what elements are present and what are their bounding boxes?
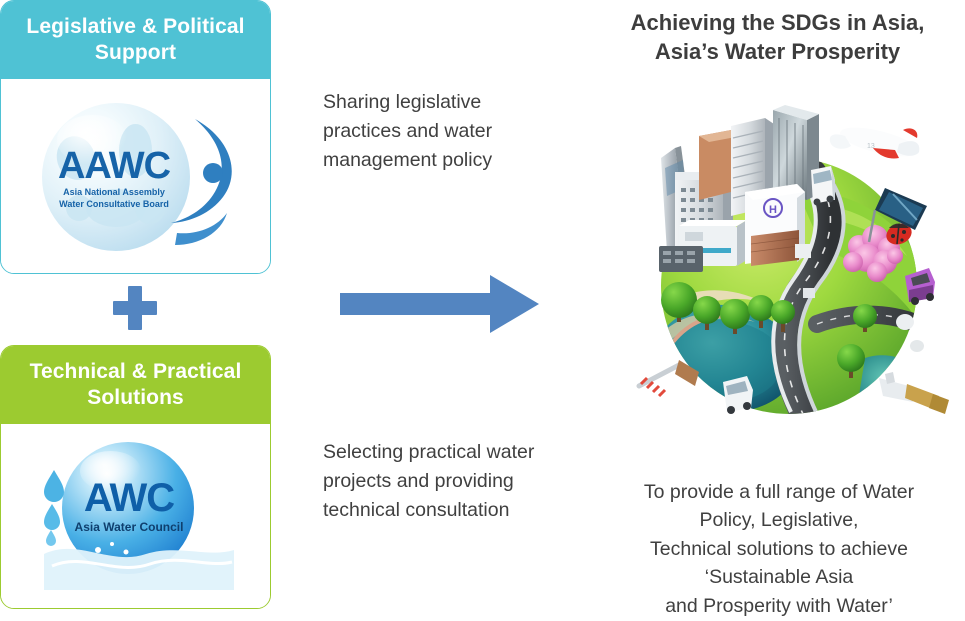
description-text-legislative: Sharing legislative practices and water … <box>323 88 573 175</box>
right-arrow-icon <box>340 273 540 335</box>
plus-icon <box>113 286 157 330</box>
awc-subtitle: Asia Water Council <box>54 520 204 534</box>
van-icon <box>723 376 753 414</box>
page-title: Achieving the SDGs in Asia, Asia’s Water… <box>590 8 965 66</box>
description-text-technical: Selecting practical water projects and p… <box>323 438 585 525</box>
card-legislative-political-support[interactable]: Legislative & Political Support AAWC Asi… <box>0 0 271 274</box>
airplane-icon: 13 <box>830 122 921 163</box>
card-body-technical: AWC Asia Water Council <box>1 424 270 608</box>
bus-icon <box>811 166 835 206</box>
awc-logo: AWC Asia Water Council <box>28 436 243 596</box>
slide-canvas: Legislative & Political Support AAWC Asi… <box>0 0 965 621</box>
awc-acronym: AWC <box>74 478 184 518</box>
faucet-icon <box>879 372 949 414</box>
card-body-legislative: AAWC Asia National Assembly Water Consul… <box>1 79 270 273</box>
eco-city-globe-illustration: H <box>627 96 952 421</box>
aawc-logo: AAWC Asia National Assembly Water Consul… <box>28 91 243 261</box>
svg-text:H: H <box>769 204 777 216</box>
aawc-acronym: AAWC <box>44 147 184 185</box>
mission-caption: To provide a full range of Water Policy,… <box>590 478 965 620</box>
aawc-subtitle: Asia National Assembly Water Consultativ… <box>38 187 190 210</box>
card-header-legislative: Legislative & Political Support <box>1 1 270 79</box>
svg-text:13: 13 <box>867 143 875 150</box>
card-header-technical: Technical & Practical Solutions <box>1 346 270 424</box>
card-technical-practical-solutions[interactable]: Technical & Practical Solutions AWC <box>0 345 271 609</box>
